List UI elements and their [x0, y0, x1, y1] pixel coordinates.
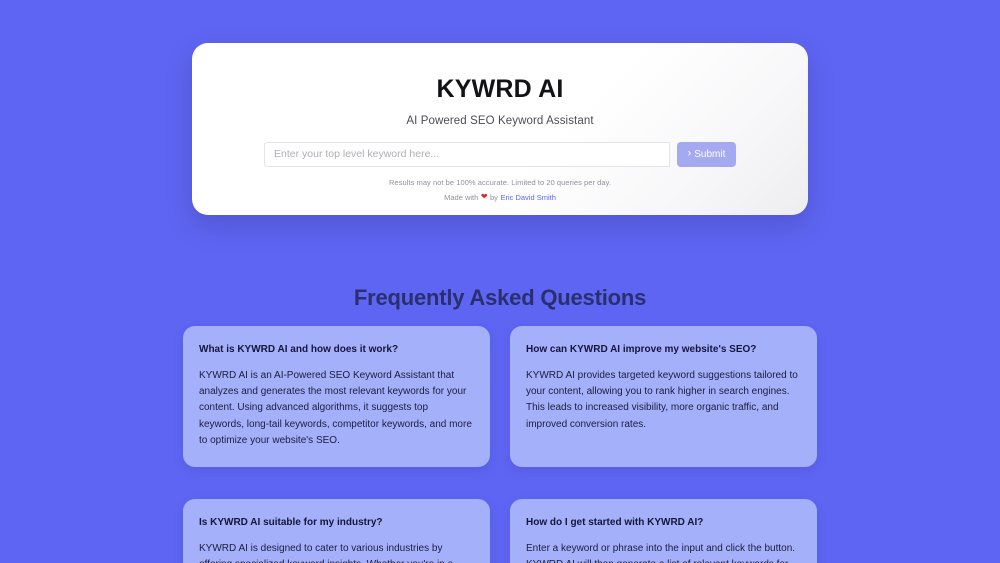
search-input[interactable]	[264, 142, 670, 167]
faq-card[interactable]: What is KYWRD AI and how does it work? K…	[183, 326, 490, 467]
faq-question: Is KYWRD AI suitable for my industry?	[199, 516, 474, 529]
page-title: KYWRD AI	[436, 76, 563, 104]
faq-question: How can KYWRD AI improve my website's SE…	[526, 343, 801, 356]
faq-grid: What is KYWRD AI and how does it work? K…	[183, 326, 817, 563]
submit-button[interactable]: › Submit	[677, 142, 736, 167]
page-subtitle: AI Powered SEO Keyword Assistant	[406, 115, 593, 127]
faq-answer: KYWRD AI is an AI-Powered SEO Keyword As…	[199, 368, 474, 449]
faq-answer: KYWRD AI provides targeted keyword sugge…	[526, 368, 801, 433]
faq-card[interactable]: How do I get started with KYWRD AI? Ente…	[510, 499, 817, 563]
faq-answer: Enter a keyword or phrase into the input…	[526, 541, 801, 563]
faq-card[interactable]: Is KYWRD AI suitable for my industry? KY…	[183, 499, 490, 563]
credit-prefix: Made with	[444, 193, 478, 202]
submit-button-label: Submit	[694, 149, 725, 160]
hero-card: KYWRD AI AI Powered SEO Keyword Assistan…	[192, 43, 808, 215]
credit-line: Made with ❤ by Eric David Smith	[444, 193, 556, 202]
heart-icon: ❤	[481, 193, 488, 201]
page-root: KYWRD AI AI Powered SEO Keyword Assistan…	[0, 0, 1000, 563]
credit-middle: by	[490, 193, 498, 202]
disclaimer-text: Results may not be 100% accurate. Limite…	[389, 178, 611, 187]
chevron-right-icon: ›	[688, 148, 692, 159]
faq-question: How do I get started with KYWRD AI?	[526, 516, 801, 529]
faq-answer: KYWRD AI is designed to cater to various…	[199, 541, 474, 563]
author-link[interactable]: Eric David Smith	[500, 193, 555, 202]
faq-question: What is KYWRD AI and how does it work?	[199, 343, 474, 356]
search-form: › Submit	[264, 142, 736, 167]
faq-card[interactable]: How can KYWRD AI improve my website's SE…	[510, 326, 817, 467]
faq-heading: Frequently Asked Questions	[0, 285, 1000, 311]
